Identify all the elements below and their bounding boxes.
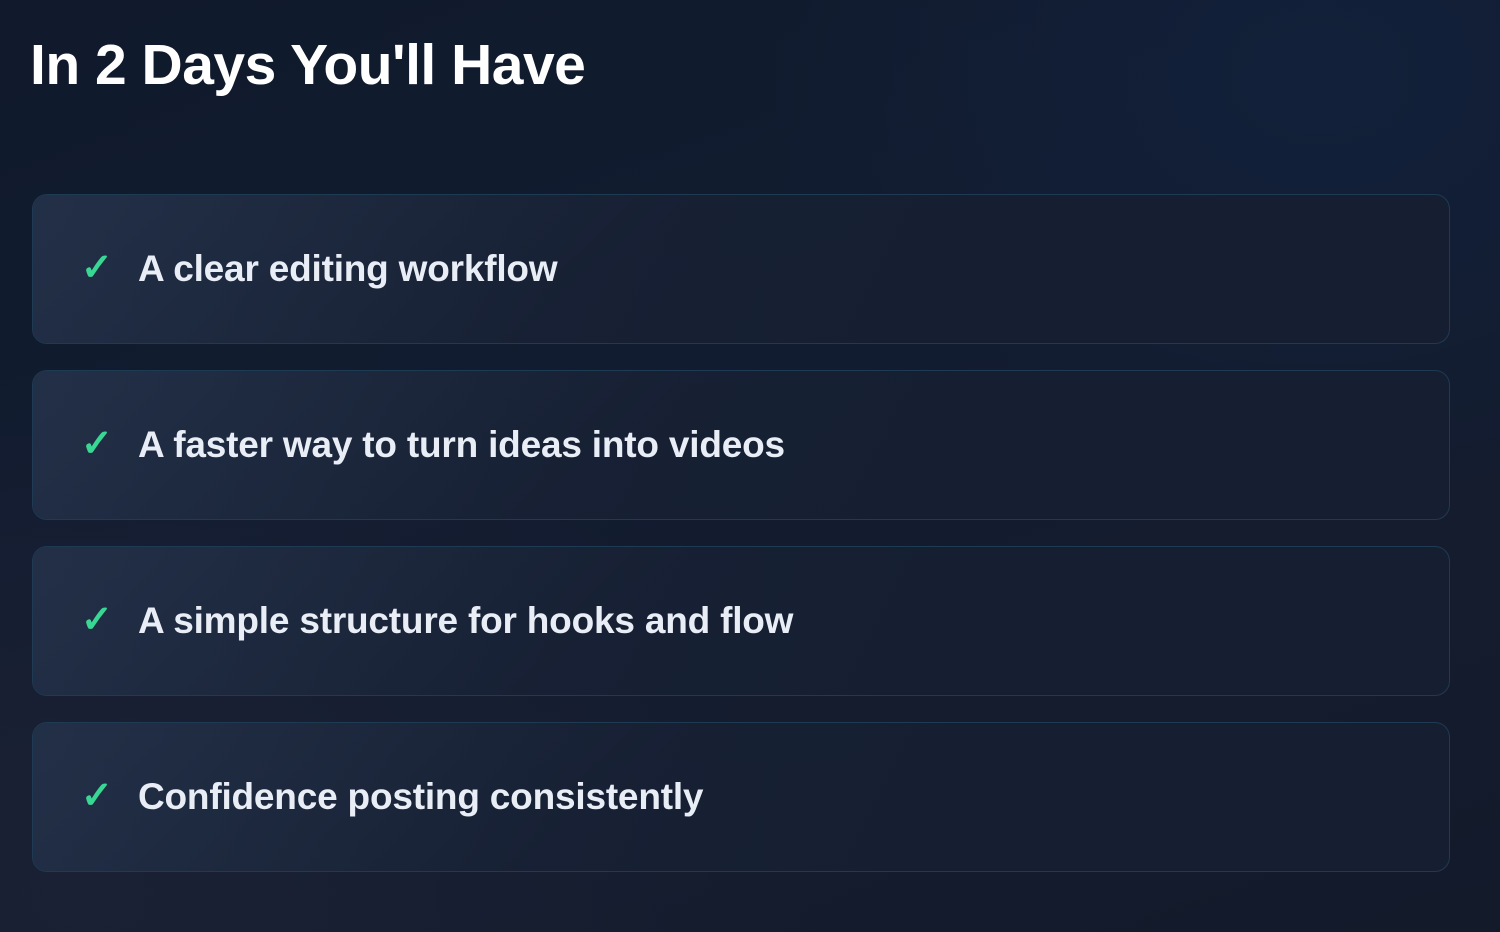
check-icon: ✓ bbox=[81, 249, 115, 287]
check-icon: ✓ bbox=[81, 601, 115, 639]
benefit-card-4: ✓ Confidence posting consistently bbox=[32, 722, 1450, 872]
benefit-label: A clear editing workflow bbox=[138, 249, 557, 290]
benefit-card-3: ✓ A simple structure for hooks and flow bbox=[32, 546, 1450, 696]
benefit-label: A faster way to turn ideas into videos bbox=[138, 425, 785, 466]
benefit-label: A simple structure for hooks and flow bbox=[138, 601, 793, 642]
check-icon: ✓ bbox=[81, 777, 115, 815]
check-icon: ✓ bbox=[81, 425, 115, 463]
benefits-list: ✓ A clear editing workflow ✓ A faster wa… bbox=[32, 194, 1450, 872]
benefit-card-1: ✓ A clear editing workflow bbox=[32, 194, 1450, 344]
benefit-card-2: ✓ A faster way to turn ideas into videos bbox=[32, 370, 1450, 520]
page-title: In 2 Days You'll Have bbox=[30, 36, 585, 96]
benefit-label: Confidence posting consistently bbox=[138, 777, 703, 818]
benefits-page: In 2 Days You'll Have ✓ A clear editing … bbox=[0, 0, 1500, 932]
